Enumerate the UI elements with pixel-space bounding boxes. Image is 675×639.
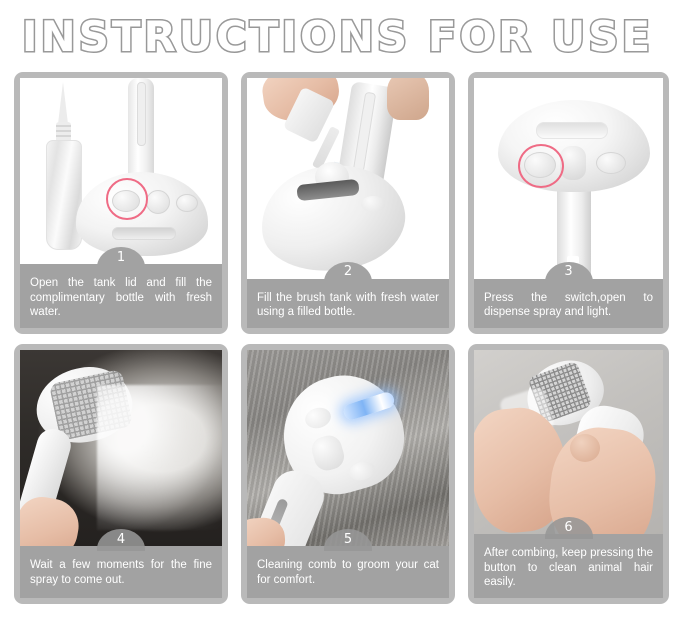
instruction-steps-grid: 1 Open the tank lid and fill the complim… xyxy=(0,72,675,604)
step-5-image xyxy=(247,350,449,546)
step-1-caption-text: Open the tank lid and fill the complimen… xyxy=(30,277,212,318)
step-panel-4: 4 Wait a few moments for the fine spray … xyxy=(14,344,228,604)
step-2-caption-text: Fill the brush tank with fresh water usi… xyxy=(257,292,439,319)
step-2-image xyxy=(247,78,449,279)
step-1-caption: 1 Open the tank lid and fill the complim… xyxy=(20,264,222,328)
step-panel-6: 6 After combing, keep pressing the butto… xyxy=(468,344,669,604)
bottle-tip-icon xyxy=(58,82,68,124)
hand-holding-device xyxy=(387,78,429,120)
center-button xyxy=(146,190,170,214)
side-button xyxy=(176,194,198,212)
step-3-caption: 3 Press the switch,open to dispense spra… xyxy=(474,279,663,328)
bottle-body-icon xyxy=(46,140,82,250)
side-button xyxy=(596,152,626,174)
step-panel-1: 1 Open the tank lid and fill the complim… xyxy=(14,72,228,334)
grooming-illustration xyxy=(247,350,449,546)
hand-holding-device xyxy=(20,493,83,546)
step-6-image xyxy=(474,350,663,534)
hair-cleaning-illustration xyxy=(474,350,663,534)
side-button xyxy=(361,196,385,212)
head-slot xyxy=(536,122,608,139)
filling-tank-illustration xyxy=(247,78,449,279)
water-mist xyxy=(97,385,222,530)
page-title: INSTRUCTIONS FOR USE xyxy=(22,12,653,61)
step-3-caption-text: Press the switch,open to dispense spray … xyxy=(484,292,653,319)
spray-demo-illustration xyxy=(20,350,222,546)
page-header: INSTRUCTIONS FOR USE xyxy=(0,0,675,72)
step-4-caption: 4 Wait a few moments for the fine spray … xyxy=(20,546,222,598)
highlight-circle-icon xyxy=(106,178,148,220)
step-3-image xyxy=(474,78,663,279)
step-5-caption-text: Cleaning comb to groom your cat for comf… xyxy=(257,559,439,586)
step-4-image xyxy=(20,350,222,546)
switch-closeup-illustration xyxy=(474,78,663,279)
base-vent xyxy=(112,227,176,240)
device-stem-slot xyxy=(137,82,146,146)
step-panel-2: 2 Fill the brush tank with fresh water u… xyxy=(241,72,455,334)
bottle-and-base-illustration xyxy=(20,78,222,264)
step-panel-3: 3 Press the switch,open to dispense spra… xyxy=(468,72,669,334)
step-6-caption: 6 After combing, keep pressing the butto… xyxy=(474,534,663,598)
step-5-caption: 5 Cleaning comb to groom your cat for co… xyxy=(247,546,449,598)
step-2-caption: 2 Fill the brush tank with fresh water u… xyxy=(247,279,449,328)
step-panel-5: 5 Cleaning comb to groom your cat for co… xyxy=(241,344,455,604)
step-4-caption-text: Wait a few moments for the fine spray to… xyxy=(30,559,212,586)
step-1-image xyxy=(20,78,222,264)
step-6-caption-text: After combing, keep pressing the button … xyxy=(484,547,653,588)
thumb xyxy=(570,434,600,462)
highlight-circle-icon xyxy=(518,144,564,188)
